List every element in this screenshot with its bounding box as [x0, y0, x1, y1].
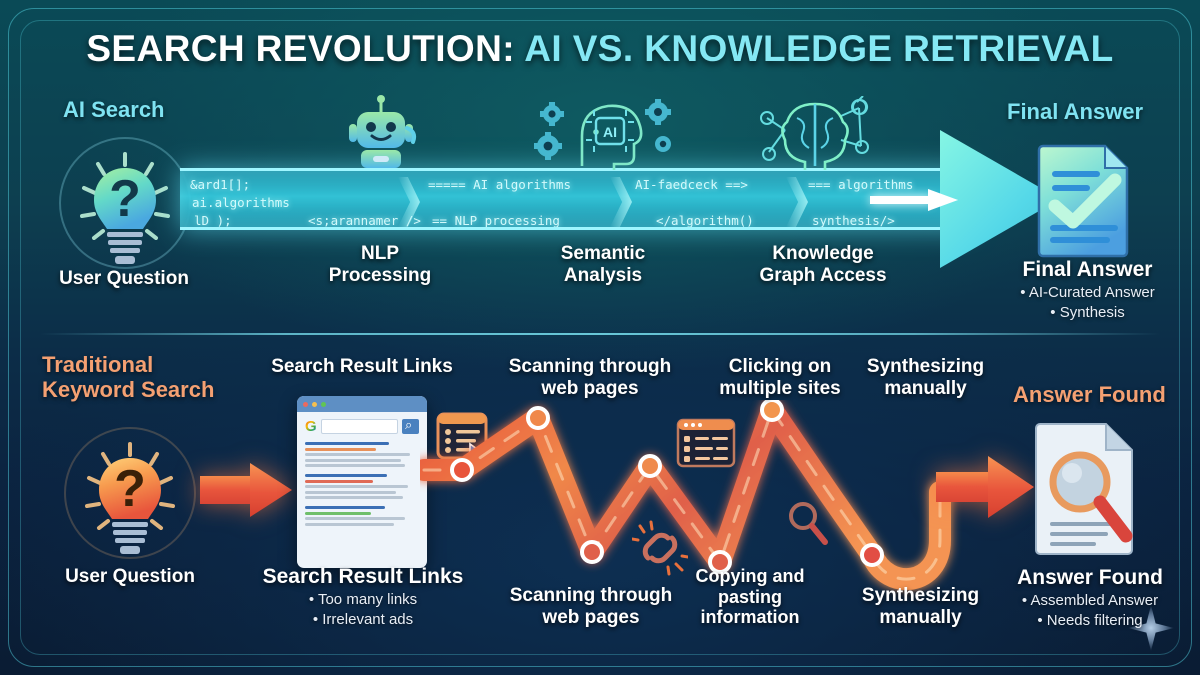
section-divider — [40, 333, 1160, 335]
infographic-canvas: SEARCH REVOLUTION: AI VS. KNOWLEDGE RETR… — [0, 0, 1200, 675]
search-input[interactable] — [321, 419, 398, 434]
chevron-right-icon — [786, 177, 808, 227]
ai-start-label: User Question — [14, 268, 234, 290]
chevron-right-icon — [610, 177, 632, 227]
browser-body: G — [297, 412, 427, 540]
ai-pipeline-band: &ard1[]; ai.algorithms lD ); <s;aranname… — [180, 168, 970, 230]
code-fragment: ===== AI algorithms — [428, 177, 571, 192]
arrow-head — [988, 456, 1034, 518]
code-fragment: &ard1[]; — [190, 177, 250, 192]
bullet-item: • AI-Curated Answer — [985, 283, 1190, 303]
traditional-step-top-label-2: Scanning through web pages — [490, 356, 690, 399]
window-dot-close[interactable] — [303, 402, 308, 407]
brain-network-icon — [745, 96, 885, 177]
bulb-glow-ring — [59, 137, 191, 269]
traditional-end-label: Answer Found — [985, 566, 1195, 590]
search-result-item[interactable] — [305, 442, 419, 467]
google-logo-icon: G — [305, 419, 317, 434]
window-dot-minimize[interactable] — [312, 402, 317, 407]
traditional-end-bullets: • Assembled Answer • Needs filtering — [985, 591, 1195, 631]
traditional-end-header: Answer Found — [1013, 383, 1166, 408]
search-result-item[interactable] — [305, 506, 419, 526]
page-title: SEARCH REVOLUTION: AI VS. KNOWLEDGE RETR… — [0, 28, 1200, 70]
window-list-icon — [676, 418, 736, 473]
ai-head-gears-icon: AI — [530, 96, 675, 175]
ai-step-label-nlp: NLP Processing — [290, 243, 470, 286]
ai-end-label: Final Answer — [985, 258, 1190, 282]
document-check-icon — [1025, 140, 1143, 263]
bullet-item: • Synthesis — [985, 303, 1190, 323]
code-fragment: == NLP processing — [432, 213, 560, 228]
svg-text:AI: AI — [603, 124, 617, 140]
document-magnifier-icon — [1032, 420, 1142, 563]
browser-search-results-icon[interactable]: G — [297, 396, 427, 568]
window-dot-maximize[interactable] — [321, 402, 326, 407]
ai-end-header: Final Answer — [1007, 100, 1143, 125]
search-button[interactable] — [402, 419, 419, 434]
robot-icon — [335, 94, 427, 177]
code-fragment: AI-faedceck ==> — [635, 177, 748, 192]
magnifying-glass-icon — [786, 500, 830, 551]
search-row: G — [305, 419, 419, 434]
orange-arrow-1 — [200, 463, 292, 517]
code-fragment: lD ); — [194, 213, 232, 228]
traditional-row-label: Traditional Keyword Search — [42, 353, 242, 402]
arrow-shaft — [200, 476, 256, 504]
lightbulb-question-icon: ? — [50, 128, 200, 278]
search-result-item[interactable] — [305, 474, 419, 499]
browser-titlebar — [297, 396, 427, 412]
ai-step-label-kg: Knowledge Graph Access — [718, 243, 928, 286]
bullet-item: • Assembled Answer — [985, 591, 1195, 611]
ai-row-label: AI Search — [63, 98, 165, 123]
code-fragment: synthesis/> — [812, 213, 895, 228]
bulb-glow-ring — [64, 427, 196, 559]
broken-chain-icon — [632, 520, 688, 581]
lightbulb-question-icon: ? — [55, 418, 205, 568]
ai-step-label-semantic: Semantic Analysis — [518, 243, 688, 286]
code-fragment: </algorithm() — [656, 213, 754, 228]
code-fragment: ai.algorithms — [192, 195, 290, 210]
ai-flow-inner-arrow-icon — [870, 189, 966, 211]
arrow-shaft — [936, 472, 994, 502]
page-title-white: SEARCH REVOLUTION: — [86, 28, 515, 69]
arrow-head — [250, 463, 292, 517]
orange-arrow-2 — [936, 456, 1034, 518]
traditional-step-top-label-4: Synthesizing manually — [848, 356, 1003, 399]
traditional-step-top-label-3: Clicking on multiple sites — [690, 356, 870, 399]
ai-end-bullets: • AI-Curated Answer • Synthesis — [985, 283, 1190, 323]
traditional-start-label: User Question — [20, 566, 240, 588]
traditional-step-bottom-label-4: Synthesizing manually — [838, 585, 1003, 628]
bullet-item: • Needs filtering — [985, 611, 1195, 631]
traditional-step-top-label-1: Search Result Links — [252, 356, 472, 378]
page-title-cyan: AI VS. KNOWLEDGE RETRIEVAL — [524, 28, 1113, 69]
